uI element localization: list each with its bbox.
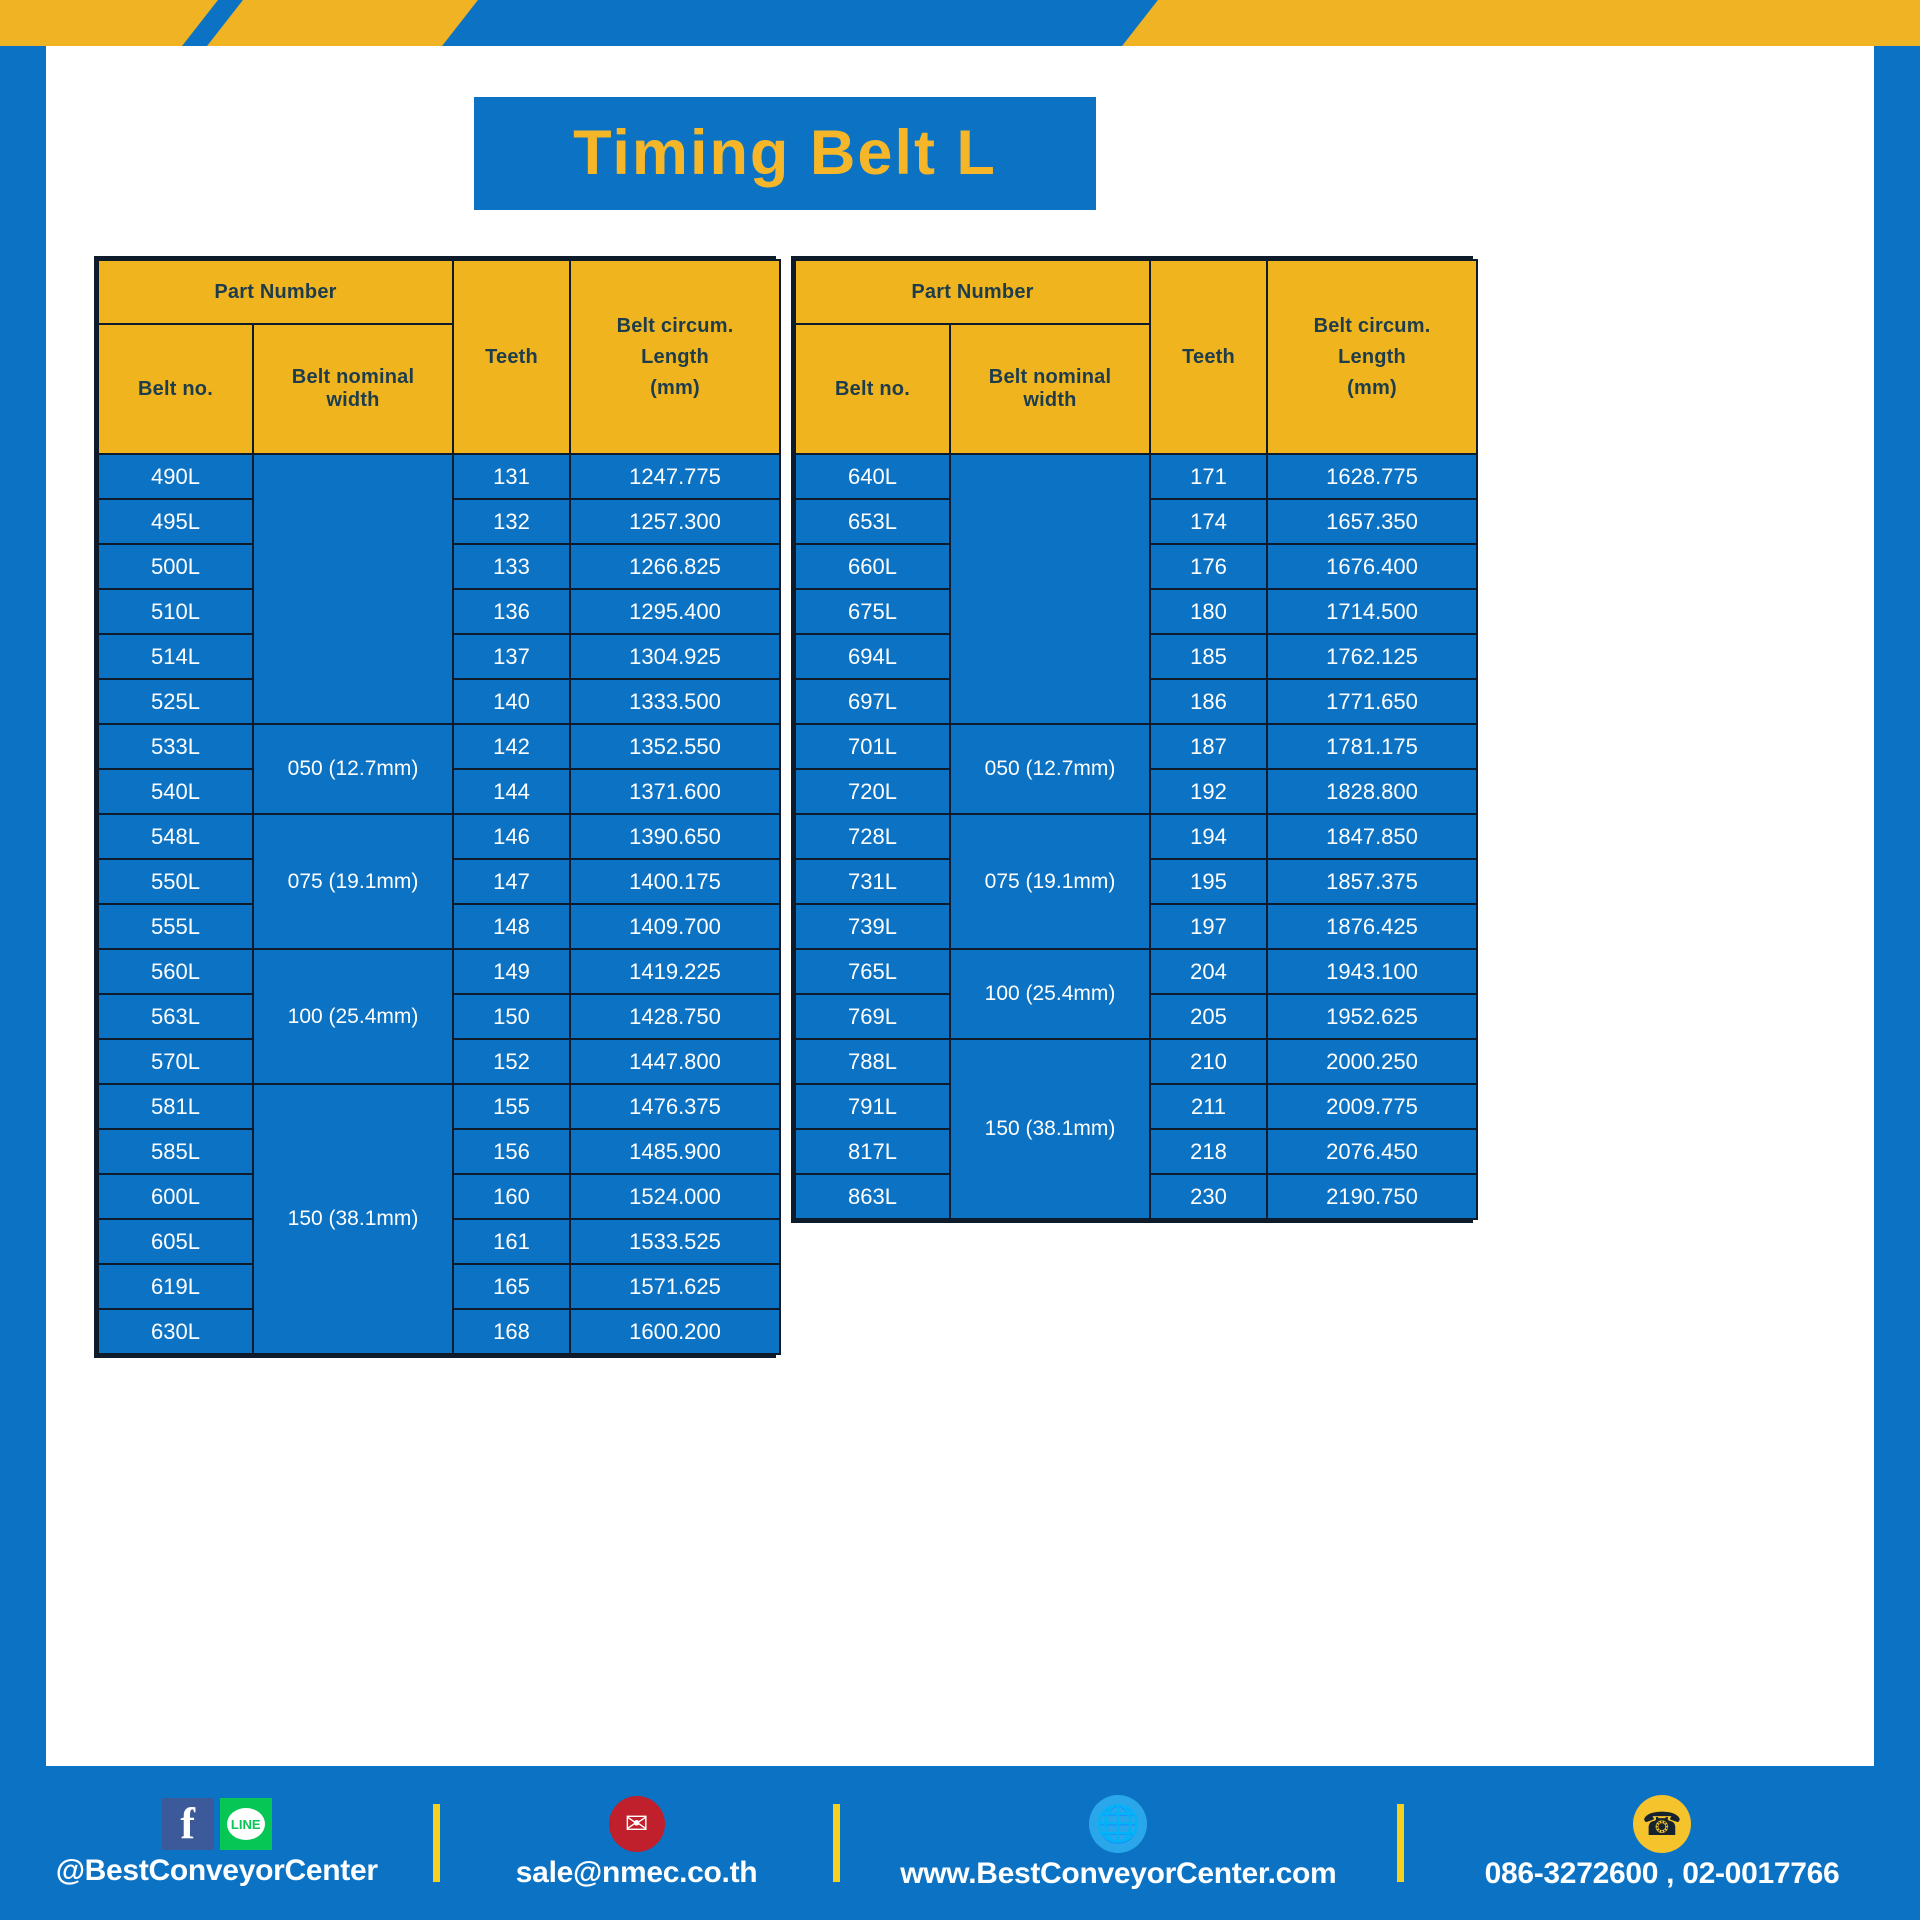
cell-belt-no: 533L [98, 724, 253, 769]
table-body-left: 490L1311247.775495L1321257.300500L133126… [98, 454, 780, 1354]
timing-belt-table-right: Part Number Teeth Belt circum. Length (m… [791, 256, 1473, 1223]
cell-belt-width: 075 (19.1mm) [950, 814, 1150, 949]
cell-belt-no: 490L [98, 454, 253, 499]
cell-teeth: 187 [1150, 724, 1267, 769]
email-icons: ✉ [609, 1796, 665, 1852]
line-badge-text: LINE [231, 1817, 261, 1832]
cell-length: 1600.200 [570, 1309, 780, 1354]
header-belt-no: Belt no. [795, 324, 950, 454]
header-part-number: Part Number [98, 260, 453, 324]
cell-teeth: 165 [453, 1264, 570, 1309]
email-address: sale@nmec.co.th [516, 1856, 758, 1890]
cell-length: 1333.500 [570, 679, 780, 724]
cell-belt-no: 619L [98, 1264, 253, 1309]
cell-length: 1857.375 [1267, 859, 1477, 904]
cell-length: 1771.650 [1267, 679, 1477, 724]
cell-length: 1657.350 [1267, 499, 1477, 544]
cell-length: 1476.375 [570, 1084, 780, 1129]
header-teeth: Teeth [453, 260, 570, 454]
cell-belt-no: 675L [795, 589, 950, 634]
cell-length: 1828.800 [1267, 769, 1477, 814]
cell-teeth: 136 [453, 589, 570, 634]
timing-belt-table-left: Part Number Teeth Belt circum. Length (m… [94, 256, 776, 1358]
cell-belt-no: 495L [98, 499, 253, 544]
header-width-line1: Belt nominal [254, 366, 452, 389]
header-belt-circum-line1: Belt circum. [1268, 311, 1476, 342]
cell-belt-no: 550L [98, 859, 253, 904]
cell-teeth: 185 [1150, 634, 1267, 679]
cell-length: 1533.525 [570, 1219, 780, 1264]
cell-teeth: 176 [1150, 544, 1267, 589]
header-belt-circum-length: Belt circum. Length (mm) [570, 260, 780, 454]
cell-belt-width: 100 (25.4mm) [950, 949, 1150, 1039]
page-title: Timing Belt L [474, 97, 1096, 210]
cell-teeth: 148 [453, 904, 570, 949]
cell-length: 1485.900 [570, 1129, 780, 1174]
cell-teeth: 146 [453, 814, 570, 859]
table-row: 788L150 (38.1mm)2102000.250 [795, 1039, 1477, 1084]
cell-belt-no: 555L [98, 904, 253, 949]
cell-length: 1571.625 [570, 1264, 780, 1309]
cell-belt-no: 560L [98, 949, 253, 994]
cell-teeth: 192 [1150, 769, 1267, 814]
cell-teeth: 204 [1150, 949, 1267, 994]
footer-website[interactable]: 🌐 www.BestConveyorCenter.com [840, 1795, 1397, 1891]
cell-length: 2190.750 [1267, 1174, 1477, 1219]
cell-length: 1762.125 [1267, 634, 1477, 679]
cell-length: 1524.000 [570, 1174, 780, 1219]
phone-numbers: 086-3272600 , 02-0017766 [1485, 1857, 1840, 1891]
table-row: 533L050 (12.7mm)1421352.550 [98, 724, 780, 769]
phone-icons: ☎ [1633, 1795, 1691, 1853]
cell-belt-no: 570L [98, 1039, 253, 1084]
cell-teeth: 131 [453, 454, 570, 499]
header-belt-nominal-width: Belt nominal width [253, 324, 453, 454]
cell-belt-no: 525L [98, 679, 253, 724]
cell-teeth: 186 [1150, 679, 1267, 724]
footer-divider [833, 1804, 840, 1882]
facebook-icon[interactable] [162, 1798, 214, 1850]
cell-belt-width: 100 (25.4mm) [253, 949, 453, 1084]
cell-belt-width: 050 (12.7mm) [950, 724, 1150, 814]
table-body-right: 640L1711628.775653L1741657.350660L176167… [795, 454, 1477, 1219]
cell-length: 1628.775 [1267, 454, 1477, 499]
phone-icon[interactable]: ☎ [1633, 1795, 1691, 1853]
cell-teeth: 218 [1150, 1129, 1267, 1174]
cell-belt-no: 697L [795, 679, 950, 724]
chevron-decoration [0, 0, 1920, 46]
cell-belt-no: 817L [795, 1129, 950, 1174]
cell-length: 1419.225 [570, 949, 780, 994]
footer-phone[interactable]: ☎ 086-3272600 , 02-0017766 [1404, 1795, 1920, 1891]
cell-length: 1943.100 [1267, 949, 1477, 994]
cell-teeth: 195 [1150, 859, 1267, 904]
cell-length: 1266.825 [570, 544, 780, 589]
line-icon[interactable]: LINE [220, 1798, 272, 1850]
cell-belt-no: 640L [795, 454, 950, 499]
cell-teeth: 147 [453, 859, 570, 904]
table-row: 728L075 (19.1mm)1941847.850 [795, 814, 1477, 859]
cell-belt-width-blank [950, 454, 1150, 724]
cell-length: 1952.625 [1267, 994, 1477, 1039]
table-row: 548L075 (19.1mm)1461390.650 [98, 814, 780, 859]
cell-belt-no: 660L [795, 544, 950, 589]
table-row: 765L100 (25.4mm)2041943.100 [795, 949, 1477, 994]
cell-belt-no: 510L [98, 589, 253, 634]
cell-teeth: 230 [1150, 1174, 1267, 1219]
cell-teeth: 140 [453, 679, 570, 724]
cell-belt-no: 563L [98, 994, 253, 1039]
header-belt-no: Belt no. [98, 324, 253, 454]
header-belt-nominal-width: Belt nominal width [950, 324, 1150, 454]
cell-belt-no: 653L [795, 499, 950, 544]
cell-length: 1247.775 [570, 454, 780, 499]
table-row: 560L100 (25.4mm)1491419.225 [98, 949, 780, 994]
cell-length: 1714.500 [1267, 589, 1477, 634]
cell-teeth: 171 [1150, 454, 1267, 499]
cell-teeth: 155 [453, 1084, 570, 1129]
cell-belt-width: 150 (38.1mm) [253, 1084, 453, 1354]
cell-teeth: 197 [1150, 904, 1267, 949]
table-header-row-1: Part Number Teeth Belt circum. Length (m… [795, 260, 1477, 324]
page-title-text: Timing Belt L [573, 122, 997, 185]
header-belt-circum-line1: Belt circum. [571, 311, 779, 342]
cell-teeth: 211 [1150, 1084, 1267, 1129]
cell-length: 2000.250 [1267, 1039, 1477, 1084]
cell-teeth: 194 [1150, 814, 1267, 859]
cell-length: 1676.400 [1267, 544, 1477, 589]
cell-belt-no: 600L [98, 1174, 253, 1219]
table-row: 640L1711628.775 [795, 454, 1477, 499]
chevron-shape [207, 0, 478, 46]
chevron-shape [1582, 0, 1920, 46]
cell-belt-no: 701L [795, 724, 950, 769]
cell-length: 1847.850 [1267, 814, 1477, 859]
cell-teeth: 160 [453, 1174, 570, 1219]
cell-teeth: 210 [1150, 1039, 1267, 1084]
cell-belt-no: 863L [795, 1174, 950, 1219]
header-width-line2: width [254, 389, 452, 412]
cell-length: 1304.925 [570, 634, 780, 679]
cell-teeth: 174 [1150, 499, 1267, 544]
cell-belt-no: 581L [98, 1084, 253, 1129]
cell-belt-width: 075 (19.1mm) [253, 814, 453, 949]
cell-belt-no: 720L [795, 769, 950, 814]
header-belt-circum-line3: (mm) [1268, 373, 1476, 404]
footer-divider [1397, 1804, 1404, 1882]
cell-belt-no: 739L [795, 904, 950, 949]
cell-teeth: 161 [453, 1219, 570, 1264]
header-width-line1: Belt nominal [951, 366, 1149, 389]
cell-length: 1781.175 [1267, 724, 1477, 769]
poster-root: Timing Belt L Part Number Teeth Belt cir… [0, 0, 1920, 1920]
cell-length: 1295.400 [570, 589, 780, 634]
cell-belt-no: 791L [795, 1084, 950, 1129]
cell-teeth: 142 [453, 724, 570, 769]
cell-length: 1390.650 [570, 814, 780, 859]
footer-bar: LINE @BestConveyorCenter ✉ sale@nmec.co.… [0, 1766, 1920, 1920]
table-header-row-1: Part Number Teeth Belt circum. Length (m… [98, 260, 780, 324]
cell-teeth: 168 [453, 1309, 570, 1354]
cell-length: 2076.450 [1267, 1129, 1477, 1174]
cell-teeth: 149 [453, 949, 570, 994]
chevron-shape [1122, 0, 1393, 46]
cell-belt-no: 788L [795, 1039, 950, 1084]
header-width-line2: width [951, 389, 1149, 412]
cell-belt-no: 605L [98, 1219, 253, 1264]
header-belt-circum-line2: Length [571, 342, 779, 373]
header-teeth: Teeth [1150, 260, 1267, 454]
cell-length: 1876.425 [1267, 904, 1477, 949]
cell-length: 1400.175 [570, 859, 780, 904]
cell-length: 2009.775 [1267, 1084, 1477, 1129]
cell-length: 1409.700 [570, 904, 780, 949]
website-url: www.BestConveyorCenter.com [900, 1857, 1336, 1891]
cell-teeth: 132 [453, 499, 570, 544]
header-belt-circum-length: Belt circum. Length (mm) [1267, 260, 1477, 454]
cell-belt-no: 548L [98, 814, 253, 859]
header-part-number: Part Number [795, 260, 1150, 324]
cell-belt-no: 694L [795, 634, 950, 679]
cell-belt-no: 630L [98, 1309, 253, 1354]
cell-teeth: 152 [453, 1039, 570, 1084]
chevron-shape [0, 0, 218, 46]
social-icons: LINE [162, 1798, 272, 1850]
cell-teeth: 156 [453, 1129, 570, 1174]
cell-teeth: 205 [1150, 994, 1267, 1039]
footer-divider [433, 1804, 440, 1882]
cell-teeth: 150 [453, 994, 570, 1039]
cell-length: 1371.600 [570, 769, 780, 814]
chevron-shape [1352, 0, 1623, 46]
table-row: 701L050 (12.7mm)1871781.175 [795, 724, 1477, 769]
cell-teeth: 137 [453, 634, 570, 679]
cell-belt-no: 500L [98, 544, 253, 589]
cell-length: 1428.750 [570, 994, 780, 1039]
mail-icon[interactable]: ✉ [609, 1796, 665, 1852]
cell-belt-no: 728L [795, 814, 950, 859]
footer-email[interactable]: ✉ sale@nmec.co.th [440, 1796, 832, 1890]
cell-belt-width: 150 (38.1mm) [950, 1039, 1150, 1219]
header-belt-circum-line3: (mm) [571, 373, 779, 404]
header-belt-circum-line2: Length [1268, 342, 1476, 373]
cell-length: 1257.300 [570, 499, 780, 544]
cell-teeth: 180 [1150, 589, 1267, 634]
cell-belt-no: 514L [98, 634, 253, 679]
cell-belt-width: 050 (12.7mm) [253, 724, 453, 814]
social-handle: @BestConveyorCenter [56, 1854, 378, 1888]
cell-belt-no: 540L [98, 769, 253, 814]
cell-teeth: 144 [453, 769, 570, 814]
cell-length: 1447.800 [570, 1039, 780, 1084]
cell-belt-no: 765L [795, 949, 950, 994]
cell-belt-no: 585L [98, 1129, 253, 1174]
table-row: 490L1311247.775 [98, 454, 780, 499]
website-icons: 🌐 [1089, 1795, 1147, 1853]
cell-belt-width-blank [253, 454, 453, 724]
table-row: 581L150 (38.1mm)1551476.375 [98, 1084, 780, 1129]
cell-teeth: 133 [453, 544, 570, 589]
globe-icon[interactable]: 🌐 [1089, 1795, 1147, 1853]
cell-length: 1352.550 [570, 724, 780, 769]
cell-belt-no: 769L [795, 994, 950, 1039]
cell-belt-no: 731L [795, 859, 950, 904]
footer-social[interactable]: LINE @BestConveyorCenter [0, 1798, 433, 1888]
